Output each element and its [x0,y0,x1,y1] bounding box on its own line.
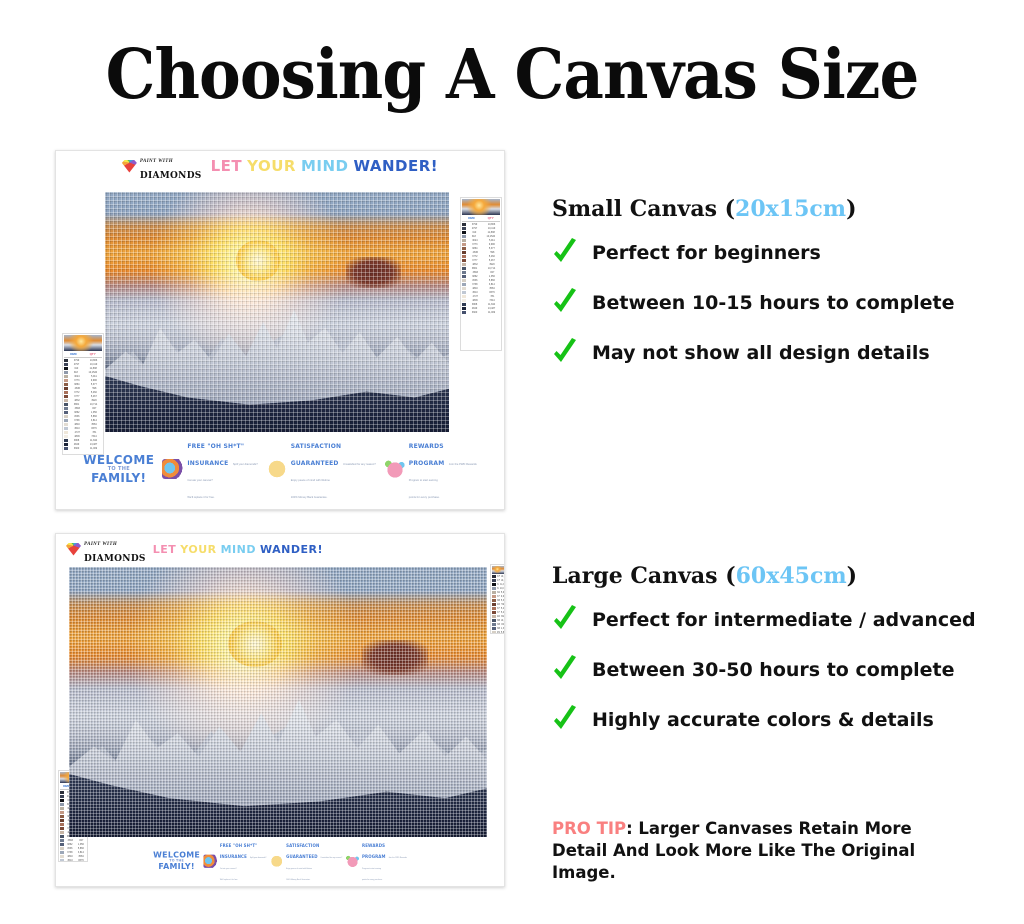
mockup-header-small: PAINT WITH DIAMONDS LET YOUR MIND WANDER… [56,151,504,181]
badge-title: SATISFACTION GUARANTEED [291,443,341,467]
canvas-artwork-small [105,192,449,432]
heading-size: 60x45cm [736,563,847,589]
large-canvas-mockup: PAINT WITH DIAMONDS LET YOUR MIND WANDER… [55,533,505,887]
small-canvas-info: Small Canvas (20x15cm) Perfect for begin… [552,196,955,388]
badge-subtitle: Join the PWD Rewards Program to start ea… [409,463,477,500]
legend-rows: 379910,866479710,41931011,89831810,15203… [492,574,504,634]
legend-dmc-code: 3600 [467,311,482,314]
paint-with-diamonds-logo: PAINT WITH DIAMONDS [122,150,202,182]
checkmark-icon [552,655,578,685]
welcome-line3: FAMILY! [153,863,200,871]
dmc-legend-right-large: 379910,866479710,41931011,89831810,15203… [490,564,505,634]
list-item-label: Perfect for beginners [592,242,821,264]
badge-rewards: REWARDS PROGRAM Join the PWD Rewards Pro… [346,839,407,883]
welcome-badge: WELCOME TO THE FAMILY! [153,851,200,871]
checkmark-icon [552,238,578,268]
badge-insurance: FREE "OH SH*T" INSURANCE Spill your diam… [203,839,266,883]
happy-cookie-icon [270,854,285,867]
small-canvas-mockup: PAINT WITH DIAMONDS LET YOUR MIND WANDER… [55,150,505,510]
legend-header: DMC QTY [462,215,500,222]
list-item-label: Perfect for intermediate / advanced [592,609,976,631]
page-title: Choosing A Canvas Size [41,36,983,114]
legend-col-dmc: DMC [70,352,77,356]
happy-cookie-icon [266,459,288,479]
legend-header: DMC QTY [64,351,102,358]
diamond-gem-icon [66,543,81,556]
legend-thumbnail [64,335,102,351]
legend-qty: 11,009 [483,311,500,314]
confetti-gem-icon [384,459,406,479]
valley-glow [152,353,422,400]
logo-line1: PAINT WITH [84,542,117,547]
legend-row: 45365,866 [492,630,504,634]
checkmark-icon [552,705,578,735]
tagline-word-your: YOUR [247,157,296,175]
logo-line2: DIAMONDS [140,171,202,181]
tagline-word-your: YOUR [180,543,216,556]
valley-glow [127,747,455,802]
badge-title: REWARDS PROGRAM [362,843,386,859]
tagline-word-let: LET [153,543,177,556]
badge-subtitle: Unsatisfied for any reason? Enjoy peace … [286,856,342,880]
sun-icon [228,621,282,667]
color-swatch [492,631,496,634]
heading-close: ) [846,196,856,222]
tagline-word-wander: WANDER! [260,543,323,556]
list-item: Between 30-50 hours to complete [552,655,976,685]
foreground-peaks [69,670,487,837]
heading-label: Large Canvas ( [552,563,736,589]
tagline-word-mind: MIND [301,157,349,175]
list-item-label: Between 30-50 hours to complete [592,659,955,681]
badge-title: REWARDS PROGRAM [409,443,445,467]
list-item: Highly accurate colors & details [552,705,976,735]
paint-with-diamonds-logo: PAINT WITH DIAMONDS [66,533,146,565]
legend-col-dmc: DMC [468,216,475,220]
diamond-gem-icon [122,160,137,173]
legend-row: 45108376 [60,858,86,862]
color-swatch [462,311,466,314]
badge-rewards: REWARDS PROGRAM Join the PWD Rewards Pro… [384,436,477,503]
welcome-badge: WELCOME TO THE FAMILY! [83,454,154,484]
tagline-word-let: LET [211,157,243,175]
badge-subtitle: Join the PWD Rewards Program to start ea… [362,856,407,880]
legend-col-qty: QTY [488,216,494,220]
list-item-label: Between 10-15 hours to complete [592,292,955,314]
tagline-small: LET YOUR MIND WANDER! [211,157,439,175]
badge-subtitle: Spill your diamonds? Cat ate your canvas… [220,856,266,880]
dark-ridge-shadow [346,257,401,288]
legend-thumbnail [462,199,500,215]
dark-ridge-shadow [362,640,429,675]
color-swatch [60,859,64,862]
canvas-artwork-large [69,567,487,837]
legend-thumbnail [492,566,504,574]
trust-badges-small: WELCOME TO THE FAMILY! FREE "OH SH*T" IN… [56,436,504,503]
badge-subtitle: Spill your diamonds? Cat ate your canvas… [187,463,257,500]
tagline-word-mind: MIND [221,543,256,556]
dark-foreground-ridge [69,756,487,837]
dark-foreground-ridge [105,360,449,432]
badge-satisfaction: SATISFACTION GUARANTEED Unsatisfied for … [266,436,376,503]
tagline-word-wander: WANDER! [353,157,438,175]
background-peaks [69,686,487,837]
small-canvas-heading: Small Canvas (20x15cm) [552,196,955,222]
checkmark-icon [552,605,578,635]
checkmark-icon [552,288,578,318]
list-item: Perfect for beginners [552,238,955,268]
pro-tip-separator: : [626,819,638,838]
background-peaks [105,298,449,432]
logo-line2: DIAMONDS [84,554,146,564]
paint-splash-icon [162,459,184,479]
legend-qty: 8376 [76,859,86,862]
heading-label: Small Canvas ( [552,196,735,222]
confetti-gem-icon [346,854,361,867]
welcome-line1: WELCOME [83,454,154,467]
badge-satisfaction: SATISFACTION GUARANTEED Unsatisfied for … [270,839,343,883]
large-canvas-info: Large Canvas (60x45cm) Perfect for inter… [552,563,976,755]
foreground-peaks [105,283,449,432]
trust-badges-large: WELCOME TO THE FAMILY! FREE "OH SH*T" IN… [132,839,428,883]
legend-rows: 379910,866479710,41931011,89831810,15203… [462,222,500,314]
badge-subtitle: Unsatisfied for any reason? Enjoy peace … [291,463,376,500]
checkmark-icon [552,338,578,368]
badge-title: SATISFACTION GUARANTEED [286,843,319,859]
large-canvas-heading: Large Canvas (60x45cm) [552,563,976,589]
list-item-label: May not show all design details [592,342,930,364]
list-item: May not show all design details [552,338,955,368]
list-item: Between 10-15 hours to complete [552,288,955,318]
legend-col-qty: QTY [90,352,96,356]
sun-icon [236,240,281,281]
legend-qty: 5,866 [501,631,504,634]
heading-close: ) [847,563,857,589]
mockup-header-large: PAINT WITH DIAMONDS LET YOUR MIND WANDER… [56,534,504,564]
legend-dmc-code: 4536 [497,631,500,634]
pro-tip-label: PRO TIP [552,819,626,838]
dmc-legend-right-small: DMC QTY 379910,866479710,41931011,898318… [460,197,502,351]
legend-dmc-code: 4510 [65,859,75,862]
tagline-large: LET YOUR MIND WANDER! [153,543,323,556]
legend-row: 360011,009 [462,310,500,314]
heading-size: 20x15cm [735,196,846,222]
pro-tip: PRO TIP: Larger Canvases Retain More Det… [552,818,972,884]
list-item-label: Highly accurate colors & details [592,709,934,731]
welcome-line3: FAMILY! [83,472,154,485]
badge-insurance: FREE "OH SH*T" INSURANCE Spill your diam… [162,436,257,503]
logo-line1: PAINT WITH [140,159,173,164]
paint-splash-icon [203,854,218,867]
list-item: Perfect for intermediate / advanced [552,605,976,635]
